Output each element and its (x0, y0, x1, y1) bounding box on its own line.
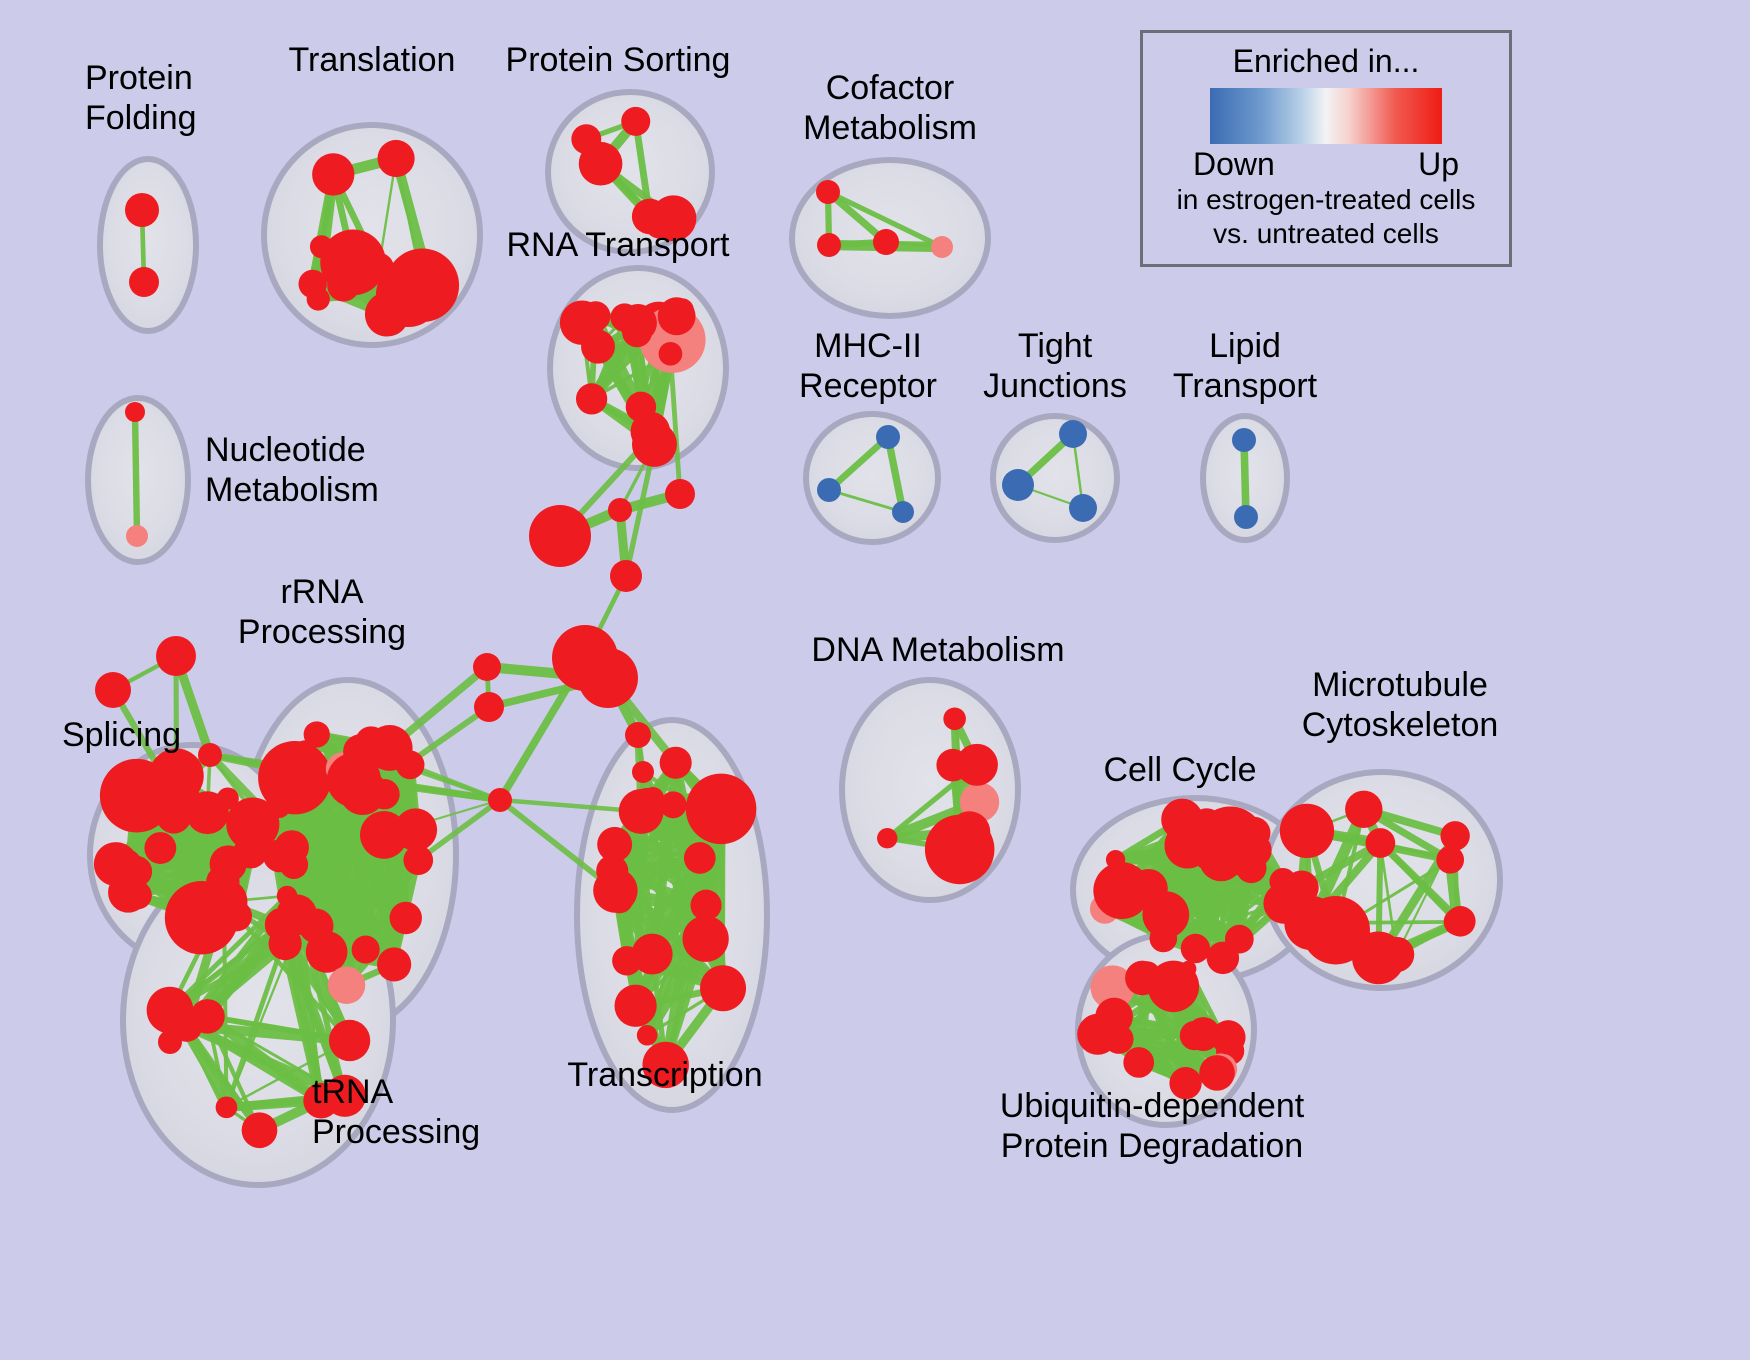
cluster-hull-mhc-ii-receptor (806, 414, 938, 542)
gene-set-node (1232, 428, 1256, 452)
gene-set-node (1280, 804, 1334, 858)
cluster-label-cofactor-metabolism: Cofactor Metabolism (803, 68, 977, 148)
gene-set-node (637, 1025, 658, 1046)
gene-set-node (1234, 505, 1258, 529)
gene-set-node (124, 881, 152, 909)
gene-set-node (1199, 837, 1243, 881)
gene-set-node (686, 774, 757, 845)
legend-end-labels: Down Up (1193, 146, 1459, 183)
gene-set-node (158, 1030, 182, 1054)
gene-set-node (943, 708, 966, 731)
legend-title: Enriched in... (1165, 43, 1487, 80)
legend-subtitle-line2: vs. untreated cells (1165, 217, 1487, 251)
gene-set-node (327, 269, 359, 301)
gene-set-node (367, 725, 413, 771)
gene-set-node (1207, 942, 1240, 975)
gene-set-node (642, 420, 668, 446)
gene-set-node (304, 721, 330, 747)
gene-set-node (488, 788, 512, 812)
gene-set-node (473, 653, 501, 681)
gene-set-node (581, 301, 611, 331)
cluster-label-rrna-processing: rRNA Processing (238, 572, 406, 652)
gene-set-node (642, 787, 664, 809)
gene-set-node (608, 498, 632, 522)
legend-up-label: Up (1418, 146, 1459, 183)
gene-set-node (201, 878, 248, 925)
gene-set-node (290, 764, 308, 782)
gene-set-node (365, 292, 409, 336)
cluster-hull-protein-folding (100, 159, 196, 331)
cluster-label-tight-junctions: Tight Junctions (983, 326, 1127, 406)
gene-set-node (1345, 791, 1382, 828)
cluster-label-rna-transport: RNA Transport (507, 225, 730, 265)
gene-set-node (593, 868, 637, 912)
cluster-label-trna-processing: tRNA Processing (312, 1072, 480, 1152)
gene-set-node (658, 297, 696, 335)
gene-set-node (877, 828, 897, 848)
gene-set-node (1002, 469, 1034, 501)
gene-set-node (529, 505, 591, 567)
gene-set-node (1096, 1014, 1125, 1043)
gene-set-node (339, 769, 385, 815)
gene-set-node (312, 153, 354, 195)
enrichment-map-figure: Protein Folding Translation Protein Sort… (0, 0, 1750, 1360)
gene-set-node (660, 791, 687, 818)
gene-set-node (625, 722, 651, 748)
gene-set-node (1238, 817, 1270, 849)
cluster-label-lipid-transport: Lipid Transport (1173, 326, 1317, 406)
gene-set-node (1129, 869, 1168, 908)
gene-set-node (956, 744, 998, 786)
gene-set-node (576, 383, 607, 414)
gene-set-node (659, 342, 683, 366)
gene-set-node (700, 965, 746, 1011)
gene-set-node (1106, 850, 1125, 869)
gene-set-node (144, 832, 176, 864)
gene-set-node (95, 672, 131, 708)
gene-set-node (1150, 925, 1178, 953)
gene-set-node (377, 947, 411, 981)
gene-set-node (1180, 961, 1196, 977)
gene-set-node (581, 330, 615, 364)
gene-set-node (210, 845, 247, 882)
cluster-label-microtubule-cytoskeleton: Microtubule Cytoskeleton (1302, 665, 1499, 745)
gene-set-node (817, 233, 841, 257)
legend-box: Enriched in... Down Up in estrogen-treat… (1140, 30, 1512, 267)
cluster-label-protein-sorting: Protein Sorting (506, 40, 731, 80)
cluster-label-protein-folding: Protein Folding (85, 58, 197, 138)
gene-set-node (1069, 494, 1097, 522)
gene-set-node (310, 235, 333, 258)
gene-set-node (1059, 420, 1087, 448)
legend-down-label: Down (1193, 146, 1275, 183)
cluster-label-ubiquitin-protein-degradation: Ubiquitin-dependent Protein Degradation (1000, 1086, 1304, 1166)
gene-set-node (1123, 1047, 1154, 1078)
cluster-label-translation: Translation (289, 40, 456, 80)
gene-set-node (394, 808, 437, 851)
gene-set-node (614, 985, 656, 1027)
gene-set-node (328, 966, 365, 1003)
gene-set-node (377, 140, 414, 177)
gene-set-node (578, 648, 638, 708)
gene-set-node (597, 827, 632, 862)
gene-set-node (242, 1112, 278, 1148)
gene-set-node (1444, 908, 1471, 935)
gene-set-node (610, 560, 642, 592)
cluster-label-dna-metabolism: DNA Metabolism (811, 630, 1064, 670)
gene-set-node (129, 267, 159, 297)
cluster-label-transcription: Transcription (567, 1055, 762, 1095)
gene-set-node (1440, 821, 1469, 850)
cluster-label-cell-cycle: Cell Cycle (1103, 750, 1256, 790)
gene-set-node (352, 936, 380, 964)
gene-set-node (198, 743, 222, 767)
gene-set-node (94, 842, 138, 886)
cluster-label-mhc-ii-receptor: MHC-II Receptor (799, 326, 937, 406)
gene-set-node (621, 107, 650, 136)
gene-set-node (1365, 828, 1395, 858)
cluster-label-nucleotide-metabolism: Nucleotide Metabolism (205, 430, 379, 510)
gene-set-node (1436, 846, 1464, 874)
gene-set-node (226, 798, 279, 851)
gene-set-node (1161, 799, 1203, 841)
gene-set-node (474, 692, 504, 722)
gene-set-node (298, 270, 326, 298)
gene-set-node (125, 193, 159, 227)
gene-set-node (1181, 934, 1210, 963)
gene-set-node (665, 479, 695, 509)
gene-set-node (1211, 1020, 1245, 1054)
gene-set-node (329, 1020, 370, 1061)
gene-set-node (684, 842, 716, 874)
gene-set-node (126, 525, 148, 547)
gene-set-node (216, 1096, 238, 1118)
gene-set-node (683, 916, 729, 962)
network-edge (135, 412, 137, 536)
gene-set-node (892, 501, 914, 523)
gene-set-node (873, 229, 899, 255)
gene-set-node (690, 890, 721, 921)
legend-color-bar (1210, 88, 1442, 144)
legend-subtitle-line1: in estrogen-treated cells (1165, 183, 1487, 217)
gene-set-node (275, 830, 309, 864)
gene-set-node (269, 927, 302, 960)
cluster-label-splicing: Splicing (62, 715, 181, 755)
gene-set-node (610, 303, 638, 331)
gene-set-node (403, 845, 433, 875)
gene-set-node (1134, 961, 1160, 987)
gene-set-node (1352, 931, 1405, 984)
gene-set-node (931, 236, 953, 258)
gene-set-node (632, 761, 654, 783)
gene-set-node (612, 946, 641, 975)
gene-set-node (168, 792, 198, 822)
gene-set-node (876, 425, 900, 449)
gene-set-node (660, 747, 692, 779)
gene-set-node (949, 811, 991, 853)
gene-set-node (156, 636, 196, 676)
gene-set-node (1284, 870, 1318, 904)
gene-set-node (816, 180, 840, 204)
gene-set-node (125, 402, 145, 422)
gene-set-node (579, 142, 623, 186)
gene-set-node (817, 478, 841, 502)
gene-set-node (390, 902, 422, 934)
